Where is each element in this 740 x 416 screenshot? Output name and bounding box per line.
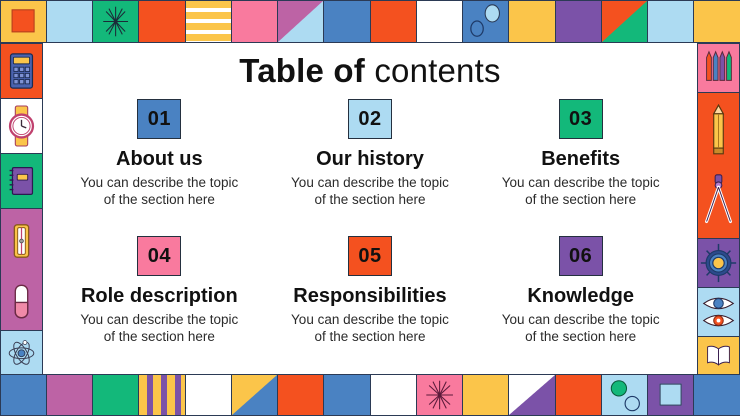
border-tile-green (92, 374, 139, 416)
border-tile-yellow-purple-stripes (138, 374, 185, 416)
border-tile-book (697, 336, 740, 375)
section-description-line2: of the section here (80, 191, 238, 208)
border-tile-blue-circles (462, 0, 509, 43)
section-description: You can describe the topic of the sectio… (502, 311, 660, 346)
section-number-badge: 03 (559, 99, 603, 139)
section-number-badge: 05 (348, 236, 392, 276)
section-title: Responsibilities (293, 286, 446, 307)
section-number-badge: 06 (559, 236, 603, 276)
wristwatch-icon (1, 99, 42, 153)
border-left (0, 43, 43, 374)
border-tile-light-blue (46, 0, 93, 43)
border-tile-white (416, 0, 463, 43)
section-title: About us (116, 149, 203, 170)
border-tile-eraser (0, 273, 43, 331)
border-tile-white (185, 374, 232, 416)
pencil-icon (698, 93, 739, 165)
border-tile-lightblue-circles (601, 374, 648, 416)
border-top (0, 0, 740, 43)
section-description-line1: You can describe the topic (291, 311, 449, 328)
border-tile-white (370, 374, 417, 416)
section-description-line1: You can describe the topic (502, 174, 660, 191)
section-number-badge: 04 (137, 236, 181, 276)
border-tile-blue (323, 374, 370, 416)
border-tile-blue (693, 374, 740, 416)
page-title: Table of contents (43, 52, 697, 90)
border-tile-sun-target (697, 238, 740, 288)
slide-canvas: Table of contents 01 About us You can de… (0, 0, 740, 416)
content-area: Table of contents 01 About us You can de… (43, 43, 697, 374)
border-tile-blue-yellow-diagonal (231, 374, 278, 416)
border-bottom (0, 374, 740, 416)
border-tile-notebook (0, 153, 43, 209)
section-title: Knowledge (527, 286, 634, 307)
border-tile-atom (0, 330, 43, 375)
sun-target-icon (698, 239, 739, 287)
border-tile-orange (370, 0, 417, 43)
section-item-06[interactable]: 06 Knowledge You can describe the topic … (478, 236, 683, 367)
section-description: You can describe the topic of the sectio… (291, 174, 449, 209)
border-tile-yellow-orange-square (0, 0, 47, 43)
border-tile-orange (555, 374, 602, 416)
border-tile-sharpener (0, 208, 43, 274)
sharpener-icon (1, 209, 42, 273)
section-number-badge: 02 (348, 99, 392, 139)
section-description: You can describe the topic of the sectio… (80, 311, 238, 346)
atom-icon (1, 331, 42, 374)
border-tile-purple-lightblue-square (647, 374, 694, 416)
border-tile-eyes (697, 287, 740, 337)
section-description-line2: of the section here (502, 191, 660, 208)
border-tile-orange (277, 374, 324, 416)
border-tile-calculator (0, 43, 43, 99)
border-tile-blue (323, 0, 370, 43)
border-tile-yellow (508, 0, 555, 43)
border-tile-compass (697, 165, 740, 239)
border-tile-yellow (693, 0, 740, 43)
section-item-01[interactable]: 01 About us You can describe the topic o… (57, 99, 262, 230)
compass-icon (698, 165, 739, 238)
border-tile-green-starburst (92, 0, 139, 43)
section-description-line1: You can describe the topic (291, 174, 449, 191)
border-tile-blue (0, 374, 47, 416)
circles-icon (463, 1, 508, 42)
border-tile-pink-starburst (416, 374, 463, 416)
eraser-icon (1, 273, 42, 330)
section-description: You can describe the topic of the sectio… (80, 174, 238, 209)
section-title: Our history (316, 149, 424, 170)
section-title: Role description (81, 286, 238, 307)
section-description-line2: of the section here (291, 191, 449, 208)
border-right (697, 43, 740, 374)
starburst-icon (93, 1, 138, 42)
border-tile-yellow (462, 374, 509, 416)
border-tile-crayons (697, 43, 740, 93)
border-tile-pink (231, 0, 278, 43)
notebook-icon (1, 154, 42, 208)
circles-icon (602, 375, 647, 415)
border-tile-pencil (697, 92, 740, 166)
border-tile-orange-green-diagonal (601, 0, 648, 43)
section-description-line1: You can describe the topic (502, 311, 660, 328)
border-tile-white-purple-diagonal (508, 374, 555, 416)
section-item-05[interactable]: 05 Responsibilities You can describe the… (268, 236, 473, 367)
border-tile-magenta-lightblue-diagonal (277, 0, 324, 43)
section-description-line2: of the section here (502, 328, 660, 345)
border-tile-magenta (46, 374, 93, 416)
section-description-line2: of the section here (80, 328, 238, 345)
title-light-part: contents (374, 52, 500, 89)
eyes-icon (698, 288, 739, 336)
title-bold-part: Table of (239, 52, 365, 89)
sections-grid: 01 About us You can describe the topic o… (57, 99, 683, 367)
section-description-line2: of the section here (291, 328, 449, 345)
section-item-02[interactable]: 02 Our history You can describe the topi… (268, 99, 473, 230)
crayons-icon (698, 44, 739, 92)
section-description-line1: You can describe the topic (80, 311, 238, 328)
section-description-line1: You can describe the topic (80, 174, 238, 191)
section-item-04[interactable]: 04 Role description You can describe the… (57, 236, 262, 367)
border-tile-purple (555, 0, 602, 43)
section-description: You can describe the topic of the sectio… (502, 174, 660, 209)
starburst-icon (417, 375, 462, 415)
section-item-03[interactable]: 03 Benefits You can describe the topic o… (478, 99, 683, 230)
border-tile-watch (0, 98, 43, 154)
section-title: Benefits (541, 149, 620, 170)
open-book-icon (698, 337, 739, 374)
border-tile-light-blue (647, 0, 694, 43)
border-tile-yellow-white-stripes (185, 0, 232, 43)
border-tile-orange (138, 0, 185, 43)
section-description: You can describe the topic of the sectio… (291, 311, 449, 346)
section-number-badge: 01 (137, 99, 181, 139)
calculator-icon (1, 44, 42, 98)
